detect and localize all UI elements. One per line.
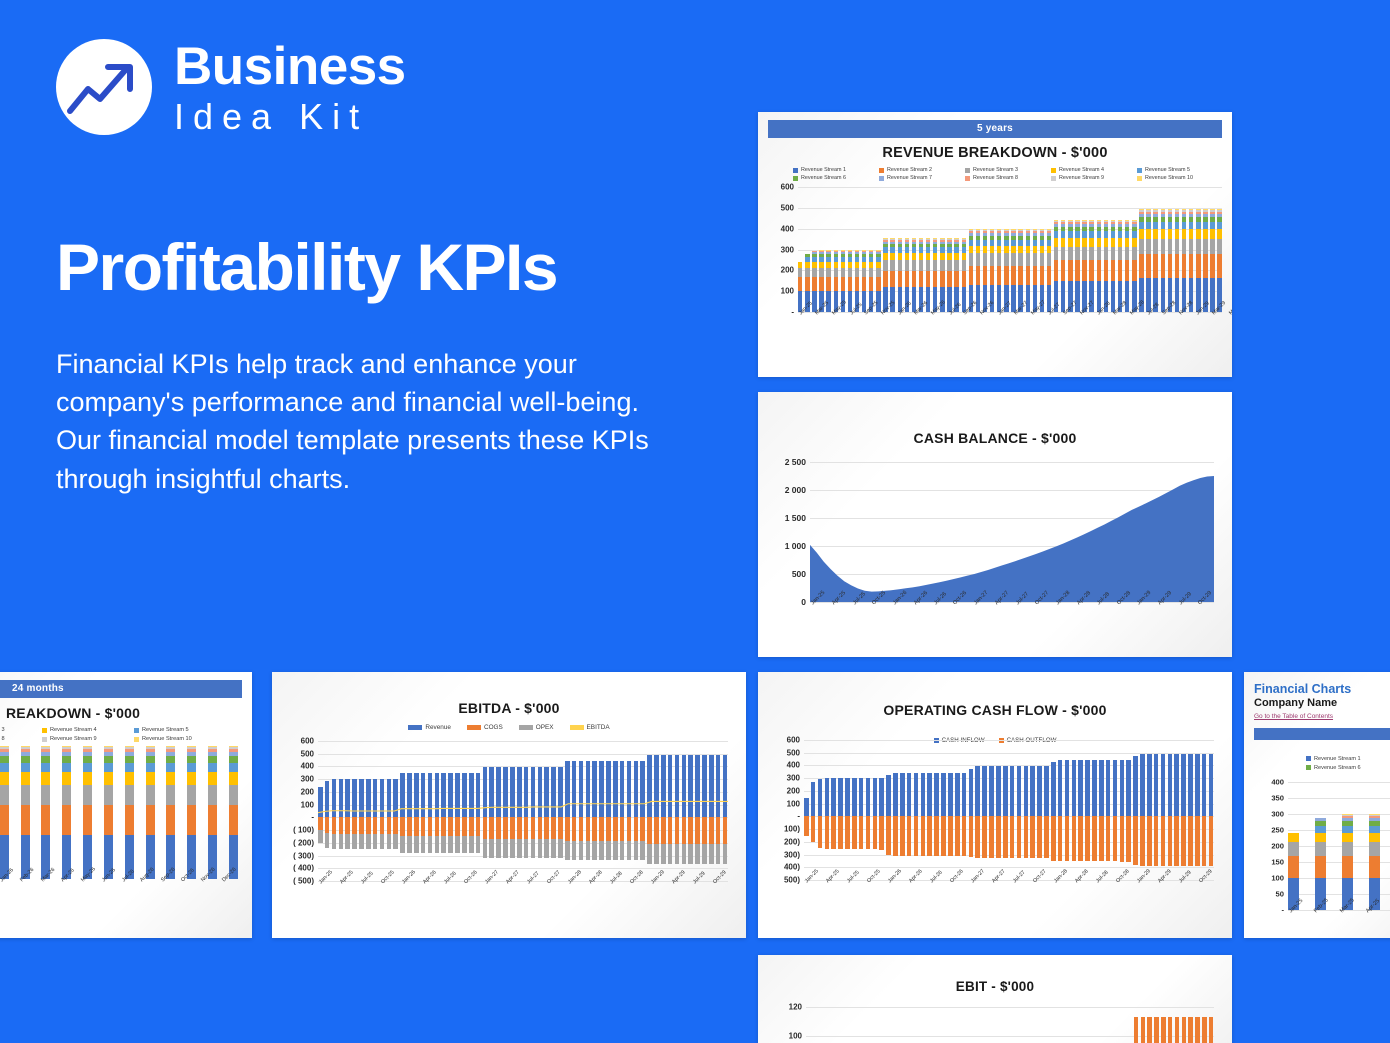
bar (1146, 187, 1150, 312)
bar-segment (1182, 209, 1186, 210)
bar-segment (208, 805, 217, 835)
bar-segment (187, 763, 196, 773)
bar-segment (1189, 254, 1193, 277)
bar-segment (1315, 818, 1326, 821)
legend-label: Revenue Stream 1 (1314, 756, 1361, 762)
bar-segment (104, 747, 113, 749)
brand-subtitle: Idea Kit (174, 96, 406, 137)
bar-segment (1210, 212, 1214, 214)
bar-segment (879, 816, 884, 849)
bar (962, 740, 967, 880)
bar-segment (1210, 222, 1214, 230)
bar-segment (1111, 220, 1115, 221)
bar-segment (1024, 766, 1029, 817)
bar (997, 187, 1001, 312)
bar (873, 740, 878, 880)
bar-segment (841, 254, 845, 257)
ebit-card[interactable]: EBIT - $'000 12010080 (758, 955, 1232, 1043)
bar-segment (1061, 224, 1065, 227)
bar-segment (812, 268, 816, 277)
bar-segment (1018, 233, 1022, 236)
bar-segment (1153, 214, 1157, 217)
bar (908, 1000, 913, 1043)
bar-segment (927, 816, 932, 856)
bar (1106, 740, 1111, 880)
bar-segment (812, 251, 816, 252)
bar-segment (1120, 816, 1125, 861)
bar-segment (1082, 224, 1086, 227)
bar (1195, 1000, 1200, 1043)
legend-item: Revenue Stream 6 (1306, 765, 1380, 771)
bar (1054, 187, 1058, 312)
bar-segment (919, 242, 923, 244)
bar (1093, 1000, 1098, 1043)
legend-item: COGS (467, 724, 503, 731)
bar-segment (1154, 1017, 1159, 1043)
y-axis-tick-label: 400 (787, 761, 800, 770)
period-banner (1254, 728, 1390, 740)
legend-label: Revenue Stream 3 (973, 167, 1018, 173)
bar-segment (883, 253, 887, 260)
bar-segment (1288, 833, 1299, 842)
bar-segment (41, 785, 50, 805)
y-axis-tick-label: 100 (301, 800, 314, 809)
bar-segment (1037, 816, 1042, 858)
bar-segment (883, 238, 887, 239)
bar (812, 187, 816, 312)
bar-segment (876, 277, 880, 291)
bar-segment (862, 268, 866, 277)
revenue-breakdown-5y-card[interactable]: 5 years REVENUE BREAKDOWN - $'000 Revenu… (758, 112, 1232, 377)
bar-segment (905, 238, 909, 239)
bar-segment (1154, 816, 1159, 865)
bar-segment (983, 266, 987, 285)
legend-swatch (793, 168, 798, 173)
bar-segment (1175, 210, 1179, 212)
bar-segment (962, 773, 967, 817)
bar-segment (947, 253, 951, 260)
legend-swatch (879, 176, 884, 181)
y-axis-tick-label: ( 500) (293, 877, 314, 886)
bar (1181, 740, 1186, 880)
bar-segment (818, 816, 823, 848)
legend-item: Revenue Stream 9 (42, 736, 134, 742)
bar-segment (834, 257, 838, 262)
legend-label: Revenue Stream 10 (142, 736, 192, 742)
bar-segment (805, 254, 809, 257)
bar-segment (1342, 833, 1353, 842)
bar-segment (1181, 816, 1186, 865)
bar-segment (1153, 212, 1157, 214)
bar-segment (954, 242, 958, 244)
hero-body-text: Financial KPIs help track and enhance yo… (56, 345, 656, 498)
y-axis-tick-label: ( 300) (293, 851, 314, 860)
bar (1104, 187, 1108, 312)
bar-segment (1003, 816, 1008, 857)
bar (1045, 1000, 1050, 1043)
bar-segment (1004, 230, 1008, 231)
table-of-contents-link[interactable]: Go to the Table of Contents (1254, 713, 1390, 720)
bar-segment (905, 240, 909, 242)
bar-segment (983, 230, 987, 231)
bar-segment (1153, 229, 1157, 239)
bar-segment (983, 229, 987, 230)
y-axis-tick-label: 150 (1271, 857, 1284, 866)
bar (866, 740, 871, 880)
bar-segment (146, 749, 155, 752)
bar-segment (1139, 217, 1143, 222)
legend-swatch (1051, 176, 1056, 181)
chart-plot-area: Nov-25Dec-25Jan-26Feb-26Mar-26Apr-26May-… (0, 755, 238, 879)
bar-segment (146, 763, 155, 773)
bar (1011, 187, 1015, 312)
bar-segment (1051, 762, 1056, 816)
bar-segment (1075, 221, 1079, 222)
bar-segment (1054, 247, 1058, 261)
bar-segment (1085, 816, 1090, 861)
bar-segment (1139, 254, 1143, 277)
bar-segment (819, 251, 823, 252)
bar (1133, 740, 1138, 880)
bar-segment (969, 233, 973, 236)
y-axis-tick-label: 2 000 (785, 485, 806, 495)
bar-segment (848, 262, 852, 268)
bar-segment (62, 772, 71, 784)
bar-segment (1147, 754, 1152, 816)
bar-segment (1146, 214, 1150, 217)
bar-segment (1037, 766, 1042, 817)
bar-segment (41, 772, 50, 784)
legend-swatch (519, 725, 533, 730)
bar (1065, 1000, 1070, 1043)
bar-segment (1097, 224, 1101, 227)
bar-segment (1118, 247, 1122, 261)
bar-segment (1196, 229, 1200, 239)
bar (83, 755, 92, 879)
bar-segment (976, 230, 980, 231)
bar (861, 1000, 866, 1043)
ebitda-card[interactable]: EBITDA - $'000 RevenueCOGSOPEXEBITDA 600… (272, 672, 746, 938)
bar-segment (812, 262, 816, 268)
bar-segment (954, 247, 958, 252)
operating-cash-flow-card[interactable]: OPERATING CASH FLOW - $'000 CASH INFLOWC… (758, 672, 1232, 938)
bar-segment (934, 773, 939, 817)
bar-segment (1097, 247, 1101, 261)
bar-segment (1061, 222, 1065, 224)
bar-segment (62, 763, 71, 773)
bar-segment (208, 749, 217, 752)
bar-segment (926, 253, 930, 260)
bar-segment (1153, 239, 1157, 254)
bar-segment (890, 242, 894, 244)
bar (0, 755, 9, 879)
bar-segment (819, 250, 823, 251)
legend-label: Revenue Stream 9 (50, 736, 97, 742)
legend-label: Revenue Stream 8 (973, 175, 1018, 181)
bar-segment (1146, 239, 1150, 254)
bar-segment (166, 805, 175, 835)
bar-segment (1369, 856, 1380, 878)
y-axis-tick-label: 300) (784, 850, 800, 859)
bar-segment (1125, 222, 1129, 224)
bar-segment (208, 752, 217, 756)
bar (1161, 187, 1165, 312)
bar-segment (1058, 816, 1063, 861)
bar-segment (1154, 754, 1159, 816)
y-axis-tick-label: 500 (781, 203, 794, 212)
bar-segment (819, 252, 823, 254)
bar-segment (841, 250, 845, 251)
bar-segment (1133, 816, 1138, 865)
bar-segment (1104, 220, 1108, 221)
bar-segment (1210, 254, 1214, 277)
bar-segment (1288, 842, 1299, 856)
y-axis-tick-label: 300 (787, 774, 800, 783)
bar-segment (1153, 210, 1157, 212)
bar-segment (1146, 229, 1150, 239)
bar-segment (845, 816, 850, 849)
bar-segment (1104, 238, 1108, 247)
bar-segment (1288, 856, 1299, 878)
bar (166, 755, 175, 879)
bar (1154, 740, 1159, 880)
bar (41, 755, 50, 879)
bar (1315, 782, 1326, 910)
bar-segment (166, 785, 175, 805)
bar-segment (104, 772, 113, 784)
bar-segment (1369, 814, 1380, 815)
bar-segment (1033, 253, 1037, 265)
bar-segment (1026, 230, 1030, 231)
bar-segment (1068, 227, 1072, 231)
revenue-breakdown-24m-card[interactable]: 24 months REAKDOWN - $'000 Revenue Strea… (0, 672, 252, 938)
bar-segment (1210, 217, 1214, 222)
bar-segment (1189, 214, 1193, 217)
bar-segment (976, 231, 980, 233)
bar-segment (1026, 229, 1030, 230)
legend-item: Revenue Stream 7 (879, 175, 963, 181)
bar-segment (1111, 238, 1115, 247)
bar-segment (1018, 246, 1022, 254)
bar-segment (926, 242, 930, 244)
bar (975, 740, 980, 880)
bar-segment (1111, 231, 1115, 238)
bar-segment (962, 240, 966, 242)
bar-segment (1092, 816, 1097, 861)
legend-label: Revenue Stream 6 (1314, 765, 1361, 771)
bar-segment (1011, 231, 1015, 233)
bar-segment (954, 239, 958, 240)
bar (1209, 740, 1214, 880)
bar-segment (940, 271, 944, 288)
bar-segment (1315, 856, 1326, 878)
bar (990, 1000, 995, 1043)
bar-segment (838, 816, 843, 849)
bar-segment (1075, 260, 1079, 281)
y-axis-tick-label: 1 000 (785, 541, 806, 551)
bar (941, 740, 946, 880)
bar (1140, 740, 1145, 880)
bar-segment (1104, 260, 1108, 281)
bar-segment (1061, 231, 1065, 238)
bar (1058, 740, 1063, 880)
bar-segment (826, 262, 830, 268)
bar-segment (1182, 239, 1186, 254)
bar-segment (83, 785, 92, 805)
page-title: Profitability KPIs (56, 233, 696, 302)
y-axis-tick-label: 200 (1271, 841, 1284, 850)
bar (1195, 740, 1200, 880)
bar-segment (166, 756, 175, 762)
bar-segment (1189, 210, 1193, 212)
bar-segment (1061, 227, 1065, 231)
bar (834, 187, 838, 312)
bar-segment (805, 257, 809, 262)
cash-balance-card[interactable]: CASH BALANCE - $'000 2 5002 0001 5001 00… (758, 392, 1232, 657)
bar-segment (1125, 247, 1129, 261)
bar-segment (1040, 229, 1044, 230)
legend-item: Revenue Stream 3 (965, 167, 1049, 173)
bar (1061, 187, 1065, 312)
bar-segment (927, 773, 932, 817)
bar-segment (1111, 227, 1115, 231)
bar-segment (947, 244, 951, 248)
y-axis-tick-label: 400 (1271, 777, 1284, 786)
bar-segment (1168, 222, 1172, 230)
bar (104, 755, 113, 879)
bar-segment (1168, 214, 1172, 217)
bar-segment (1125, 224, 1129, 227)
bar-segment (940, 239, 944, 240)
bar-segment (208, 747, 217, 749)
bar-segment (1047, 253, 1051, 265)
bar-segment (1113, 816, 1118, 861)
bar-segment (1089, 238, 1093, 247)
bar (949, 1000, 954, 1043)
bar-segment (1075, 227, 1079, 231)
bar-segment (969, 231, 973, 233)
bar-segment (1033, 233, 1037, 236)
bar-segment (83, 747, 92, 749)
bar-segment (926, 271, 930, 288)
bar-segment (855, 251, 859, 252)
chart-title: REVENUE BREAKDOWN - $'000 (768, 145, 1222, 161)
bar (1202, 1000, 1207, 1043)
bar-segment (1065, 816, 1070, 861)
bar (1033, 187, 1037, 312)
bar-segment (1118, 222, 1122, 224)
bar-segment (166, 772, 175, 784)
legend-item: Revenue Stream 5 (134, 727, 226, 733)
y-axis-tick-label: 600 (301, 737, 314, 746)
bar-segment (933, 242, 937, 244)
brand-logo: Business Idea Kit (56, 36, 696, 137)
bar-segment (41, 746, 50, 748)
bar-series-container (798, 187, 1222, 312)
bar-segment (1175, 1017, 1180, 1043)
bar-segment (166, 746, 175, 748)
bar (1052, 1000, 1057, 1043)
y-axis-tick-label: 400) (784, 863, 800, 872)
bar-segment (926, 240, 930, 242)
bar-segment (1030, 766, 1035, 817)
bar-segment (1132, 231, 1136, 238)
bar (874, 1000, 879, 1043)
bar-segment (1026, 231, 1030, 233)
bar-segment (1011, 266, 1015, 285)
y-axis-tick-label: 50 (1276, 889, 1284, 898)
y-axis-tick-label: 200 (787, 786, 800, 795)
bar-segment (1182, 217, 1186, 222)
bar-segment (1342, 826, 1353, 833)
bar-segment (21, 749, 30, 752)
bar-segment (811, 816, 816, 841)
bar (943, 1000, 948, 1043)
bar-segment (1168, 217, 1172, 222)
bar-segment (1040, 266, 1044, 285)
bar (982, 740, 987, 880)
bar-segment (1099, 760, 1104, 816)
financial-charts-panel-card[interactable]: Financial Charts Company Name Go to the … (1244, 672, 1390, 938)
bar-segment (890, 238, 894, 239)
bar-segment (890, 260, 894, 271)
bar-segment (990, 240, 994, 246)
y-axis-tick-label: 100 (781, 287, 794, 296)
bar-segment (1182, 229, 1186, 239)
bar (1065, 740, 1070, 880)
bar-segment (886, 816, 891, 854)
bar (1139, 187, 1143, 312)
bar-segment (983, 246, 987, 254)
bar-segment (1075, 220, 1079, 221)
bar-segment (21, 756, 30, 762)
bar (847, 1000, 852, 1043)
bar-segment (1004, 246, 1008, 254)
bar-segment (934, 816, 939, 856)
bar-segment (1011, 229, 1015, 230)
bar (811, 740, 816, 880)
bar-segment (969, 266, 973, 285)
bar-segment (869, 268, 873, 277)
bar-segment (983, 233, 987, 236)
x-axis: Jan-25Apr-25Jul-25Oct-25Jan-26Apr-26Jul-… (804, 880, 1214, 886)
bar-segment (819, 250, 823, 251)
bar (977, 1000, 982, 1043)
bar-segment (1075, 281, 1079, 312)
bar (1182, 187, 1186, 312)
bar-segment (855, 250, 859, 251)
bar-segment (1061, 247, 1065, 261)
bar (1168, 740, 1173, 880)
y-axis-tick-label: 350 (1271, 793, 1284, 802)
bar-segment (898, 271, 902, 288)
bar-segment (1026, 240, 1030, 246)
y-axis-tick-label: 400 (781, 224, 794, 233)
bar-segment (812, 257, 816, 262)
bar-segment (125, 746, 134, 748)
bar-segment (1195, 816, 1200, 865)
bar-segment (921, 816, 926, 856)
chart-title: OPERATING CASH FLOW - $'000 (770, 702, 1220, 718)
bar-segment (1011, 253, 1015, 265)
bar-segment (1026, 236, 1030, 240)
bar-segment (1068, 220, 1072, 221)
bar (1037, 740, 1042, 880)
legend-label: Revenue Stream 3 (0, 727, 5, 733)
bar-segment (926, 244, 930, 248)
bar-segment (21, 747, 30, 749)
bar-segment (1196, 209, 1200, 210)
